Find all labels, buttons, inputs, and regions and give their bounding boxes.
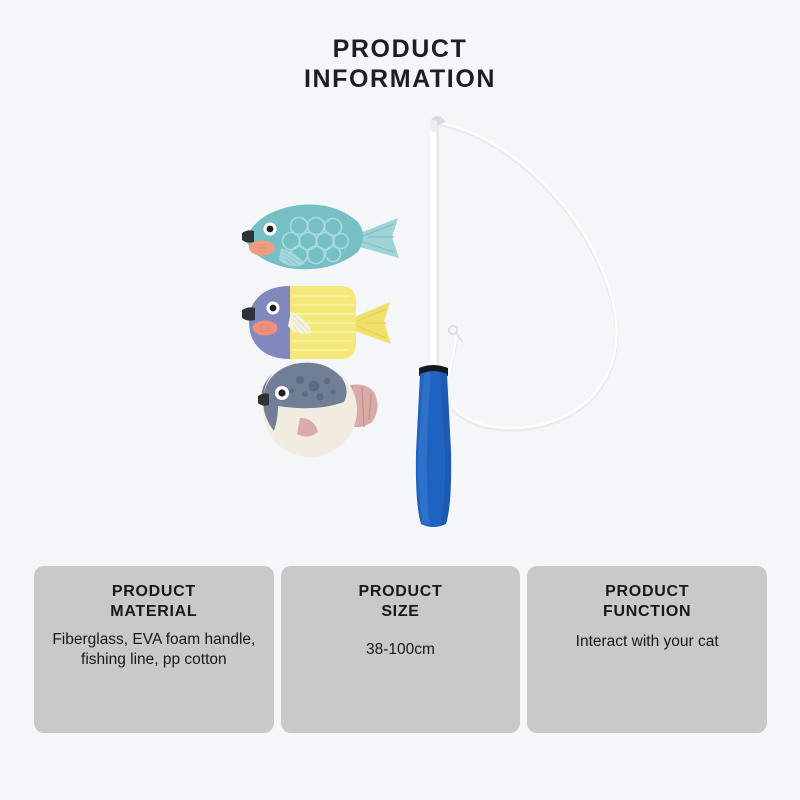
product-function-card-body: Interact with your cat <box>539 632 755 652</box>
product-size-card-body: 38-100cm <box>293 640 509 660</box>
product-information-page: PRODUCT INFORMATION <box>0 0 800 800</box>
product-illustration <box>0 100 800 550</box>
product-size-card-title: PRODUCT SIZE <box>293 582 509 622</box>
page-title: PRODUCT INFORMATION <box>0 34 800 94</box>
page-title-line-1: PRODUCT <box>0 34 800 64</box>
page-title-line-2: INFORMATION <box>0 64 800 94</box>
product-material-card-body: Fiberglass, EVA foam handle, fishing lin… <box>46 630 262 670</box>
product-size-card: PRODUCT SIZE 38-100cm <box>281 566 521 733</box>
fishing-rod-icon <box>416 116 617 527</box>
product-info-cards: PRODUCT MATERIAL Fiberglass, EVA foam ha… <box>34 566 767 733</box>
product-function-card-title: PRODUCT FUNCTION <box>539 582 755 622</box>
pufferfish-icon <box>258 363 378 457</box>
yellow-purple-fish-icon <box>242 286 391 359</box>
teal-scaled-fish-icon <box>242 205 399 270</box>
product-material-card: PRODUCT MATERIAL Fiberglass, EVA foam ha… <box>34 566 274 733</box>
product-material-card-title: PRODUCT MATERIAL <box>46 582 262 622</box>
product-function-card: PRODUCT FUNCTION Interact with your cat <box>527 566 767 733</box>
